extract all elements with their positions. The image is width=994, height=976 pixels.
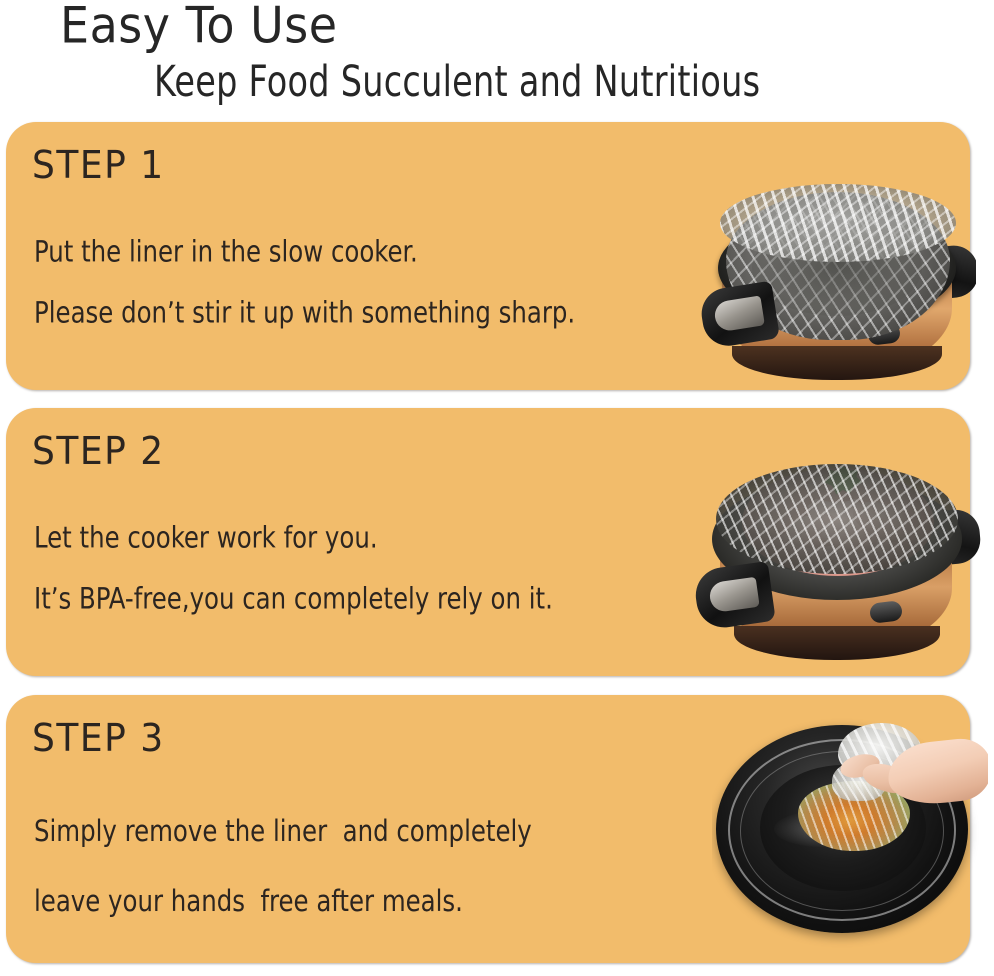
pot-knob: [869, 600, 903, 624]
slow-cooker-with-liner-image: [696, 128, 976, 390]
plastic-liner: [726, 192, 950, 340]
chicken-drumstick: [806, 473, 863, 503]
black-pot-body: [716, 725, 968, 933]
chicken-drumstick: [840, 465, 903, 520]
step-1-line-1: Put the liner in the slow cooker.: [34, 220, 674, 283]
chicken-drumstick: [819, 511, 881, 558]
pot-knob: [867, 322, 901, 346]
hand-thumb: [859, 759, 912, 797]
step-1-title: STEP 1: [32, 144, 165, 187]
step-2-body: Let the cooker work for you. It’s BPA-fr…: [34, 506, 694, 628]
parsley-garnish: [822, 466, 864, 500]
step-3-line-2: leave your hands free after meals.: [34, 865, 674, 938]
step-card-1: STEP 1 Put the liner in the slow cooker.…: [6, 122, 970, 390]
pot-rim-inner-ring: [740, 751, 944, 911]
used-liner-with-food: [798, 781, 910, 851]
page-title: Easy To Use: [60, 0, 338, 54]
hand: [885, 736, 988, 809]
liner-inner-shadow: [752, 220, 922, 316]
chicken-drumstick: [784, 511, 847, 551]
pot-body: [722, 256, 952, 374]
liner-gathered-top: [838, 723, 922, 781]
chicken-drumstick: [766, 467, 828, 522]
page-subtitle: Keep Food Succulent and Nutritious: [154, 58, 760, 107]
step-2-line-2: It’s BPA-free,you can completely rely on…: [34, 567, 674, 630]
hand-finger: [838, 750, 882, 781]
step-3-body: Simply remove the liner and completely l…: [34, 795, 694, 935]
cooker-with-chicken-image: [694, 404, 984, 676]
step-3-title: STEP 3: [32, 717, 165, 760]
pot-handle-left: [694, 561, 776, 631]
pot-handle-right: [919, 243, 976, 301]
pot-handle-left: [698, 281, 780, 350]
chicken-drumstick: [848, 493, 917, 550]
liner-neck: [832, 761, 886, 801]
liner-collar: [720, 184, 956, 262]
step-2-line-1: Let the cooker work for you.: [34, 506, 674, 569]
step-card-3: STEP 3 Simply remove the liner and compl…: [6, 695, 970, 963]
pot-rim: [718, 212, 956, 324]
pot-base: [732, 346, 942, 380]
step-2-title: STEP 2: [32, 430, 165, 473]
plastic-liner: [716, 464, 958, 574]
step-3-line-1: Simply remove the liner and completely: [34, 795, 674, 868]
chicken-pile: [742, 468, 934, 576]
header: Easy To Use Keep Food Succulent and Nutr…: [0, 0, 994, 118]
pot-handle-right: [926, 508, 983, 566]
step-card-2: STEP 2 Let the cooker work for you. It’s…: [6, 408, 970, 676]
pot-rim-outer-ring: [728, 739, 956, 921]
pot-rim: [712, 478, 962, 600]
pot-interior: [760, 765, 926, 891]
pot-base: [734, 626, 940, 660]
step-1-line-2: Please don’t stir it up with something s…: [34, 281, 674, 344]
step-1-body: Put the liner in the slow cooker. Please…: [34, 220, 694, 342]
chicken-drumstick: [749, 489, 814, 544]
pot-body: [720, 540, 952, 652]
pot-gloss-highlight: [774, 811, 870, 847]
removing-liner-image: [712, 703, 988, 953]
